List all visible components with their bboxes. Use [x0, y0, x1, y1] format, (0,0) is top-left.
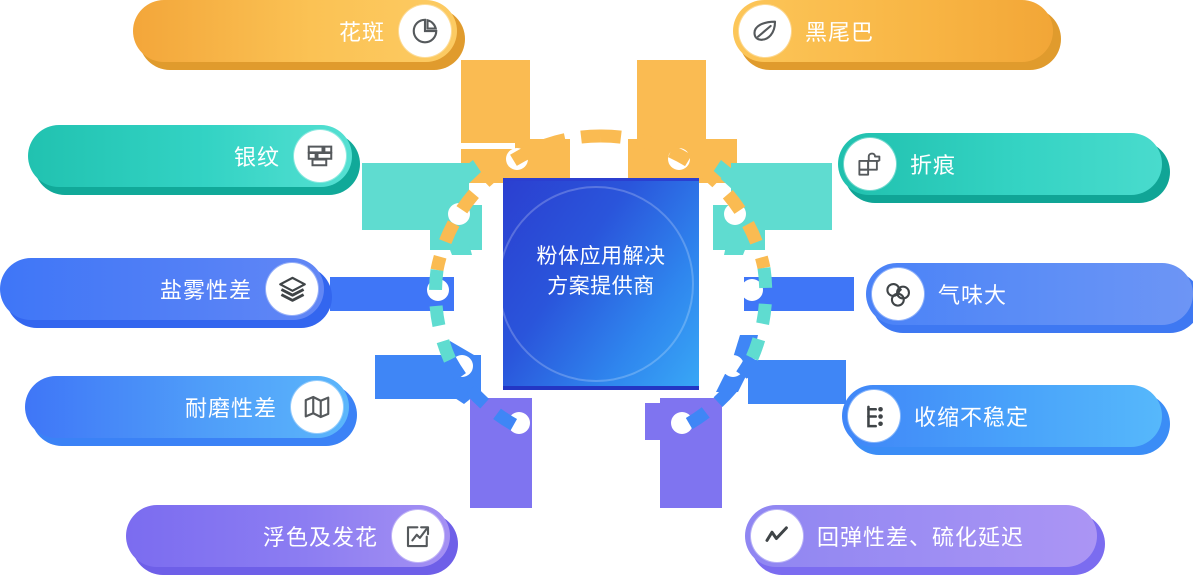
- chart-growth-icon: [392, 510, 444, 562]
- center-title: 粉体应用解决 方案提供商: [503, 242, 699, 302]
- connector-purple-left: [470, 398, 532, 508]
- connector-orange-right: [628, 60, 737, 183]
- node-left-2[interactable]: 银纹: [28, 125, 352, 187]
- sitemap-icon: [848, 390, 900, 442]
- node-label: 盐雾性差: [160, 273, 252, 305]
- node-right-3[interactable]: 气味大: [866, 263, 1193, 325]
- puzzle-icon: [844, 138, 896, 190]
- center-bottom-rule: [503, 386, 699, 390]
- map-icon: [291, 381, 343, 433]
- center-top-rule: [503, 178, 699, 181]
- node-label: 浮色及发花: [263, 520, 378, 552]
- line-chart-icon: [751, 510, 803, 562]
- brick-wall-icon: [294, 130, 346, 182]
- connector-blue-lower-right: [716, 335, 846, 404]
- node-left-3[interactable]: 盐雾性差: [0, 258, 324, 320]
- node-label: 收缩不稳定: [914, 400, 1029, 432]
- connector-teal-right: [713, 160, 832, 255]
- node-left-5[interactable]: 浮色及发花: [126, 505, 450, 567]
- node-label: 耐磨性差: [185, 391, 277, 423]
- recycle-icon: [872, 268, 924, 320]
- infographic-canvas: 粉体应用解决 方案提供商 花斑 银纹: [0, 0, 1193, 577]
- node-label: 折痕: [910, 148, 956, 180]
- layers-icon: [266, 263, 318, 315]
- node-right-4[interactable]: 收缩不稳定: [842, 385, 1162, 447]
- node-label: 回弹性差、硫化延迟: [817, 520, 1024, 552]
- connector-blue-left: [330, 277, 454, 311]
- node-left-1[interactable]: 花斑: [133, 0, 457, 62]
- connector-teal-left: [362, 160, 482, 255]
- connector-purple-right: [645, 398, 722, 508]
- node-label: 黑尾巴: [805, 15, 874, 47]
- connector-blue-lower-left: [375, 341, 481, 404]
- connector-orange-left: [461, 60, 570, 183]
- pie-chart-icon: [399, 5, 451, 57]
- node-right-5[interactable]: 回弹性差、硫化延迟: [745, 505, 1097, 567]
- node-label: 花斑: [339, 15, 385, 47]
- node-label: 银纹: [234, 140, 280, 172]
- leaf-icon: [739, 5, 791, 57]
- node-left-4[interactable]: 耐磨性差: [25, 376, 349, 438]
- node-right-1[interactable]: 黑尾巴: [733, 0, 1053, 62]
- node-label: 气味大: [938, 278, 1007, 310]
- node-right-2[interactable]: 折痕: [838, 133, 1162, 195]
- connector-blue-right: [741, 277, 854, 311]
